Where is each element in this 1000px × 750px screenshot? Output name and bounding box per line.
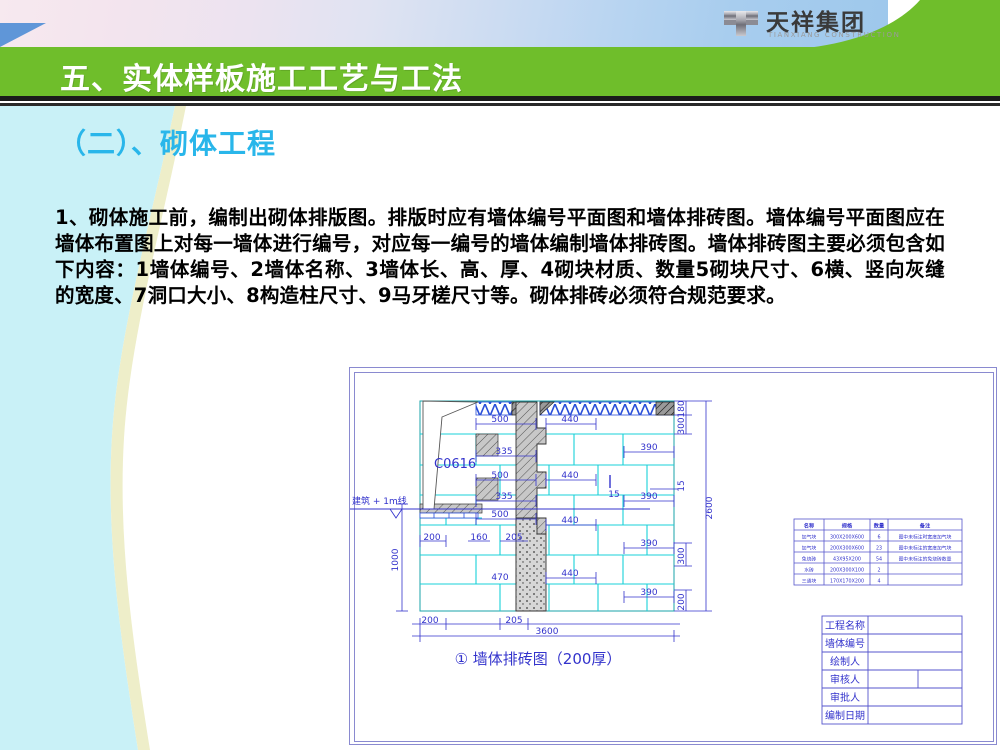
svg-text:免烧砖: 免烧砖	[802, 556, 817, 563]
svg-text:绘制人: 绘制人	[830, 655, 860, 668]
svg-text:200X300X100: 200X300X100	[830, 568, 864, 574]
material-table-header-row: 名称 规格 数量 备注	[804, 522, 931, 530]
left-cyan-decoration	[0, 106, 200, 750]
dim-200-b: 200	[421, 616, 438, 626]
dim-160: 160	[470, 533, 487, 543]
svg-text:备注: 备注	[919, 522, 931, 530]
dim-440-a: 440	[561, 415, 578, 425]
dim-440-c: 440	[561, 516, 578, 526]
dim-440-b: 440	[561, 471, 578, 481]
svg-text:规格: 规格	[842, 522, 853, 530]
dim-15: 15	[608, 490, 619, 500]
svg-text:编制日期: 编制日期	[825, 709, 865, 722]
section-title: （二）、砌体工程	[58, 122, 276, 162]
svg-text:300X200X600: 300X200X600	[830, 535, 864, 541]
svg-text:审核人: 审核人	[830, 673, 860, 686]
dim-200-a: 200	[423, 533, 440, 543]
datum-label: 建筑 + 1m线	[352, 495, 407, 507]
svg-text:加气块: 加气块	[802, 545, 817, 552]
svg-text:图中未标注时宽度加气块: 图中未标注时宽度加气块	[899, 534, 952, 541]
dim-500-b: 500	[491, 471, 508, 481]
dim-180: 180	[677, 400, 687, 417]
svg-text:数量: 数量	[874, 522, 885, 530]
title-block	[822, 616, 962, 724]
window-tag-label: C0616	[434, 457, 476, 472]
svg-text:54: 54	[876, 557, 882, 563]
logo-name-en: TIANXIANG CONSTRUCTION	[768, 31, 900, 39]
svg-text:三通块: 三通块	[802, 578, 817, 585]
dim-15-v: 15	[677, 480, 687, 491]
svg-text:水砖: 水砖	[804, 567, 814, 574]
dim-440-d: 440	[561, 569, 578, 579]
company-logo: 天祥集团 TIANXIANG CONSTRUCTION	[722, 4, 892, 46]
svg-text:图中未标注的宽度加气块: 图中未标注的宽度加气块	[899, 545, 952, 552]
svg-text:图中未标注的免烧砖数量: 图中未标注的免烧砖数量	[899, 556, 952, 563]
title-block-labels: 工程名称 墙体编号 绘制人 审核人 审批人 编制日期	[825, 619, 865, 722]
dim-390-a: 390	[640, 443, 657, 453]
header-bar: 五、实体样板施工工艺与工法	[0, 47, 1000, 96]
svg-text:4: 4	[877, 579, 880, 585]
dim-390-c: 390	[640, 539, 657, 549]
svg-text:200X300X600: 200X300X600	[830, 546, 864, 552]
dim-3600: 3600	[536, 627, 559, 637]
svg-text:加气块: 加气块	[802, 534, 817, 541]
wall-brick-layout-drawing: 500 440 335 500 440 335 500 440 440 390 …	[350, 368, 996, 744]
dim-205-a: 205	[505, 533, 522, 543]
svg-text:2: 2	[877, 568, 880, 574]
dim-205-b: 205	[505, 616, 522, 626]
svg-text:工程名称: 工程名称	[825, 619, 865, 632]
slide-root: 天祥集团 TIANXIANG CONSTRUCTION 五、实体样板施工工艺与工…	[0, 0, 1000, 750]
blue-triangle-accent	[0, 0, 60, 47]
dim-500-a: 500	[491, 415, 508, 425]
dim-335-b: 335	[495, 492, 512, 502]
body-paragraph: 1、砌体施工前，编制出砌体排版图。排版时应有墙体编号平面图和墙体排砖图。墙体编号…	[55, 205, 945, 309]
svg-text:170X170X200: 170X170X200	[830, 579, 864, 585]
dim-390-b: 390	[640, 492, 657, 502]
page-title: 五、实体样板施工工艺与工法	[60, 54, 463, 98]
svg-text:审批人: 审批人	[830, 691, 860, 704]
drawing-caption: ① 墙体排砖图（200厚）	[455, 650, 622, 668]
dim-390-d: 390	[640, 588, 657, 598]
dim-2600: 2600	[705, 496, 715, 519]
svg-text:23: 23	[876, 546, 882, 552]
dim-300-a: 300	[677, 417, 687, 434]
dim-1000: 1000	[391, 548, 401, 571]
dim-470: 470	[491, 573, 508, 583]
technical-drawing-frame: 500 440 335 500 440 335 500 440 440 390 …	[349, 367, 997, 745]
svg-text:墙体编号: 墙体编号	[825, 637, 865, 650]
dim-335-a: 335	[495, 447, 512, 457]
svg-text:名称: 名称	[804, 522, 815, 530]
dim-500-c: 500	[491, 510, 508, 520]
svg-text:43X95X200: 43X95X200	[833, 557, 861, 563]
svg-text:6: 6	[877, 535, 880, 541]
dim-200-c: 200	[677, 593, 687, 610]
dim-300-b: 300	[677, 547, 687, 564]
